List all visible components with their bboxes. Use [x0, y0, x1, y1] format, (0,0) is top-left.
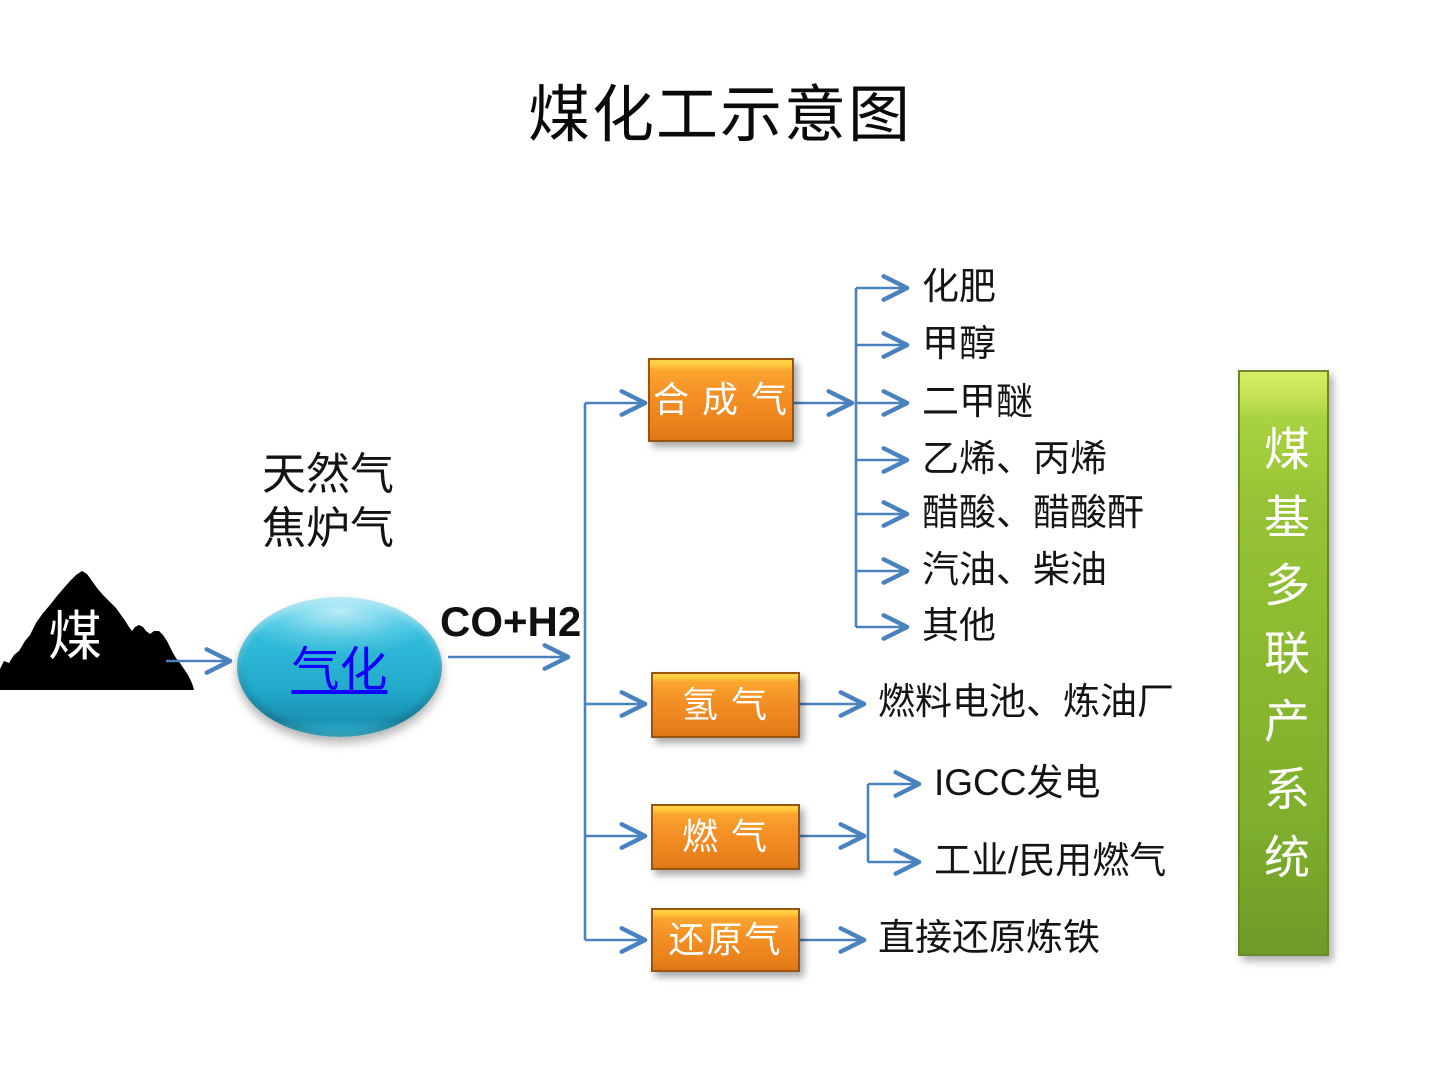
process-box-reducing-label: 还原气	[668, 920, 782, 960]
product-label-acetic-acid: 醋酸、醋酸酐	[922, 493, 1144, 535]
product-label-igcc-latin: IGCC	[934, 762, 1027, 803]
product-label-olefins: 乙烯、丙烯	[922, 439, 1107, 481]
diagram-canvas: 煤化工示意图 煤 天然气 焦炉气 气化 CO+H2	[0, 0, 1440, 1077]
product-label-dme: 二甲醚	[922, 382, 1033, 424]
syngas-stream-label: CO+H2	[440, 598, 581, 646]
product-label-town-gas-slash: /	[1008, 840, 1018, 881]
product-label-dri: 直接还原炼铁	[878, 918, 1100, 960]
process-box-hydrogen-label: 氢 气	[682, 685, 769, 725]
product-label-igcc: IGCC发电	[934, 762, 1101, 805]
process-box-hydrogen[interactable]: 氢 气	[651, 672, 800, 738]
process-box-syngas-label: 合 成 气	[653, 380, 789, 420]
page-title: 煤化工示意图	[0, 78, 1440, 154]
product-label-fertilizer: 化肥	[922, 267, 996, 309]
gasification-node[interactable]: 气化	[237, 597, 442, 737]
product-label-igcc-cjk: 发电	[1027, 763, 1101, 804]
coal-label: 煤	[48, 608, 102, 666]
product-label-other: 其他	[922, 606, 996, 648]
process-box-reducing[interactable]: 还原气	[651, 908, 800, 972]
process-box-fuelgas-label: 燃 气	[682, 817, 769, 857]
product-label-town-gas: 工业/民用燃气	[934, 840, 1166, 883]
product-label-town-gas-pre: 工业	[934, 841, 1008, 882]
feedstock-gas-label: 天然气 焦炉气	[262, 448, 394, 556]
product-label-methanol: 甲醇	[922, 324, 996, 366]
product-label-fuels: 汽油、柴油	[922, 550, 1107, 592]
product-label-hydrogen-uses: 燃料电池、炼油厂	[878, 682, 1174, 724]
product-label-town-gas-post: 民用燃气	[1018, 841, 1166, 882]
system-banner[interactable]: 煤基多联产系统	[1238, 370, 1329, 956]
process-box-fuelgas[interactable]: 燃 气	[651, 804, 800, 870]
gasification-label: 气化	[291, 645, 387, 697]
process-box-syngas[interactable]: 合 成 气	[648, 358, 794, 442]
system-banner-label: 煤基多联产系统	[1247, 425, 1320, 901]
